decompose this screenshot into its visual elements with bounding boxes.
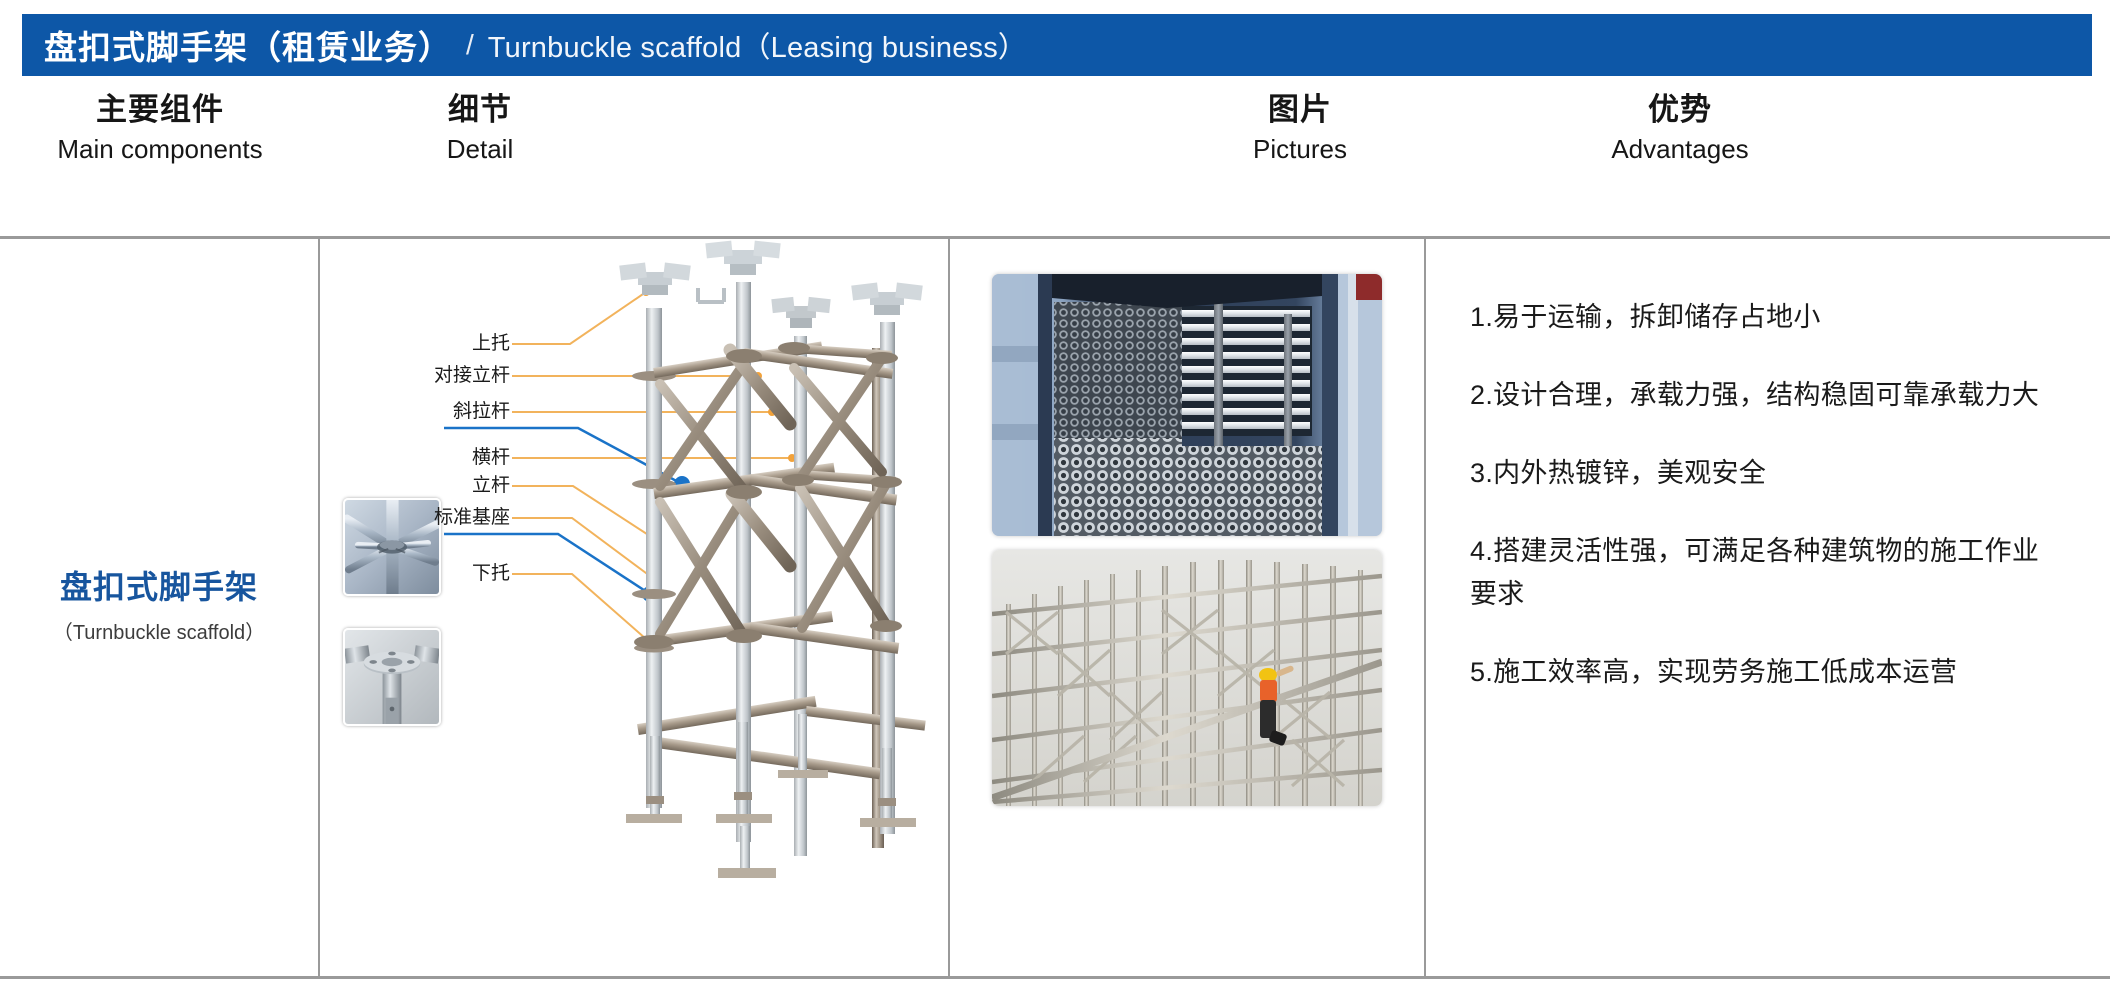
detail-cell: 上托 对接立杆 斜拉杆 横杆 立杆 标准基座 下托 xyxy=(320,236,948,976)
advantage-item: 2.设计合理，承载力强，结构稳固可靠承载力大 xyxy=(1470,374,2066,417)
component-name-en: （Turnbuckle scaffold） xyxy=(53,619,265,647)
page-header-bar: 盘扣式脚手架（租赁业务） / Turnbuckle scaffold（Leasi… xyxy=(22,14,2092,76)
column-header-row: 主要组件 Main components 细节 Detail 图片 Pictur… xyxy=(0,88,2110,236)
scaffold-jobsite-image xyxy=(992,550,1382,806)
advantage-item: 1.易于运输，拆卸储存占地小 xyxy=(1470,296,2066,339)
scaffold-tubes-in-container-image xyxy=(992,274,1382,536)
component-name-cn: 盘扣式脚手架 xyxy=(60,565,258,609)
header-title-en: Turnbuckle scaffold（Leasing business） xyxy=(488,24,1027,66)
column-header-advantages: 优势 Advantages xyxy=(1300,88,2060,166)
advantage-item: 4.搭建灵活性强，可满足各种建筑物的施工作业要求 xyxy=(1470,530,2066,616)
advantage-item: 5.施工效率高，实现劳务施工低成本运营 xyxy=(1470,651,2066,694)
main-component-cell: 盘扣式脚手架 （Turnbuckle scaffold） xyxy=(0,236,318,976)
product-spec-page: 盘扣式脚手架（租赁业务） / Turnbuckle scaffold（Leasi… xyxy=(0,0,2110,982)
callout-label-henggan: 横杆 xyxy=(380,446,510,470)
callout-label-duijieligan: 对接立杆 xyxy=(340,364,510,388)
application-photo-container xyxy=(992,550,1382,806)
column-header-en: Advantages xyxy=(1300,132,2060,166)
column-header-cn: 优势 xyxy=(1300,88,2060,132)
column-header-en: Detail xyxy=(320,132,640,166)
column-header-en: Main components xyxy=(0,132,320,166)
column-header-cn: 主要组件 xyxy=(0,88,320,132)
advantage-item: 3.内外热镀锌，美观安全 xyxy=(1470,452,2066,495)
callout-label-ligan: 立杆 xyxy=(380,474,510,498)
product-photo-container xyxy=(992,274,1382,536)
header-separator: / xyxy=(466,29,474,61)
column-header-cn: 细节 xyxy=(320,88,640,132)
header-title-cn: 盘扣式脚手架（租赁业务） xyxy=(44,21,452,69)
advantages-cell: 1.易于运输，拆卸储存占地小 2.设计合理，承载力强，结构稳固可靠承载力大 3.… xyxy=(1426,236,2110,976)
column-header-detail: 细节 Detail xyxy=(320,88,640,166)
callout-label-biaozhunjizuo: 标准基座 xyxy=(340,506,510,530)
callout-label-shangtuo: 上托 xyxy=(380,332,510,356)
callout-label-xiatuo: 下托 xyxy=(380,562,510,586)
column-header-main-components: 主要组件 Main components xyxy=(0,88,320,166)
pictures-cell xyxy=(950,236,1424,976)
callout-label-xielagan: 斜拉杆 xyxy=(360,400,510,424)
table-bottom-divider xyxy=(0,976,2110,979)
